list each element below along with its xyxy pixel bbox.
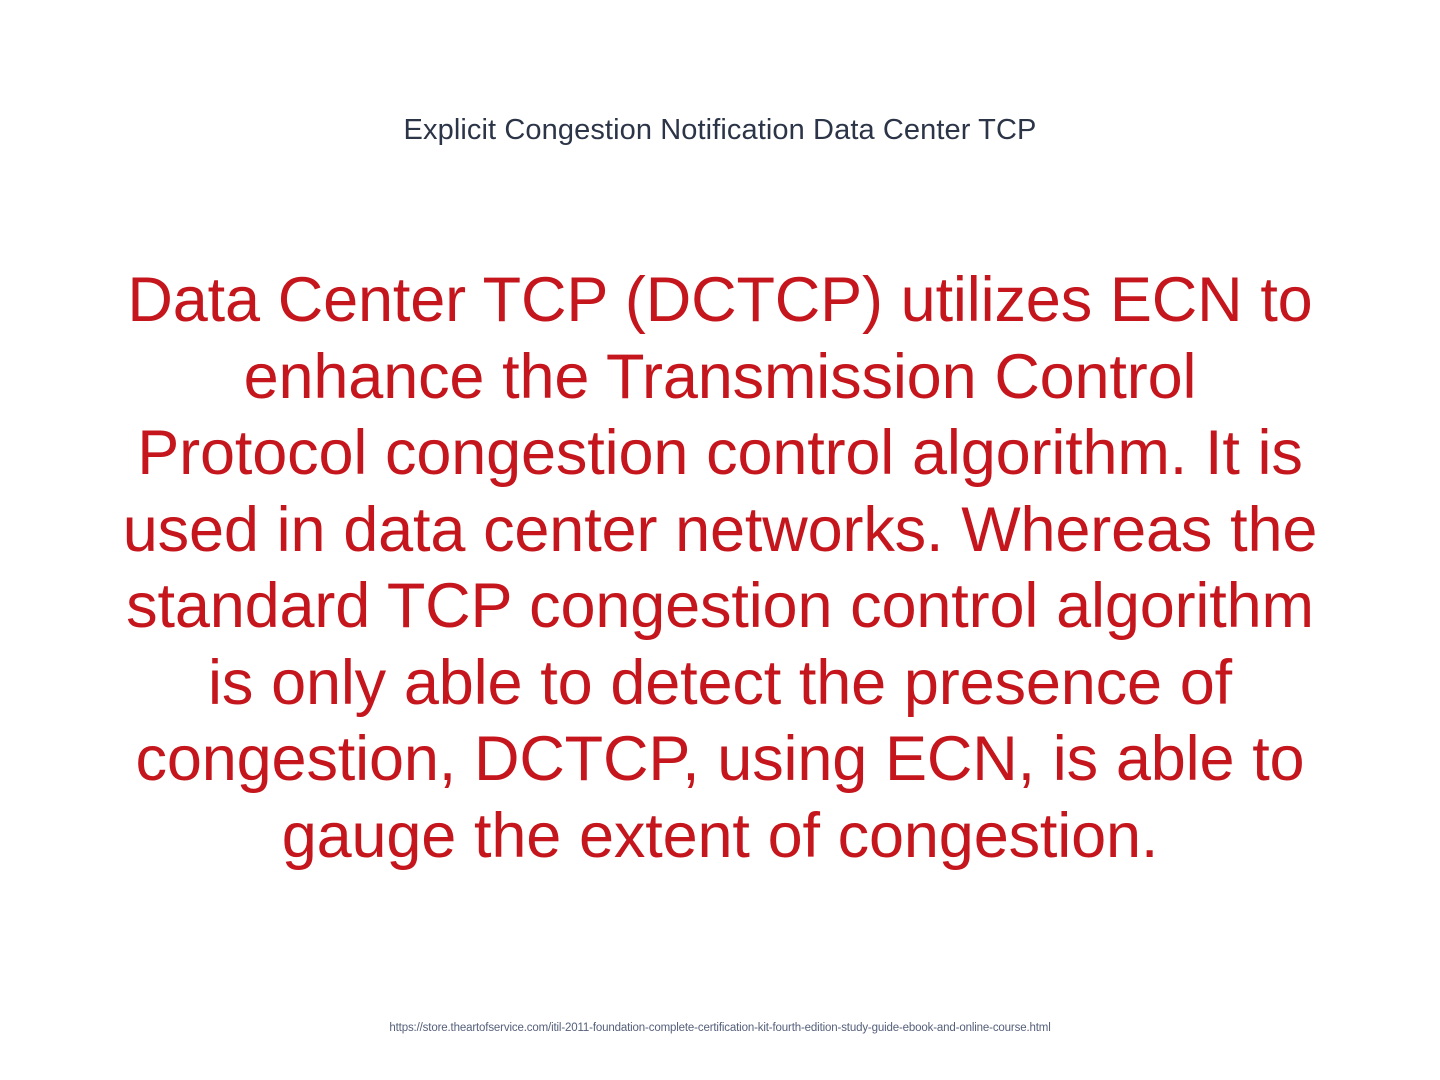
- presentation-slide: Explicit Congestion Notification Data Ce…: [0, 0, 1440, 1080]
- slide-body-text: Data Center TCP (DCTCP) utilizes ECN to …: [120, 262, 1320, 874]
- footer-source-url[interactable]: https://store.theartofservice.com/itil-2…: [389, 1021, 1050, 1036]
- page-title: Explicit Congestion Notification Data Ce…: [404, 112, 1037, 148]
- slide-body-container: Data Center TCP (DCTCP) utilizes ECN to …: [120, 262, 1320, 874]
- slide-footer-container: https://store.theartofservice.com/itil-2…: [0, 1018, 1440, 1036]
- slide-title-container: Explicit Congestion Notification Data Ce…: [0, 112, 1440, 148]
